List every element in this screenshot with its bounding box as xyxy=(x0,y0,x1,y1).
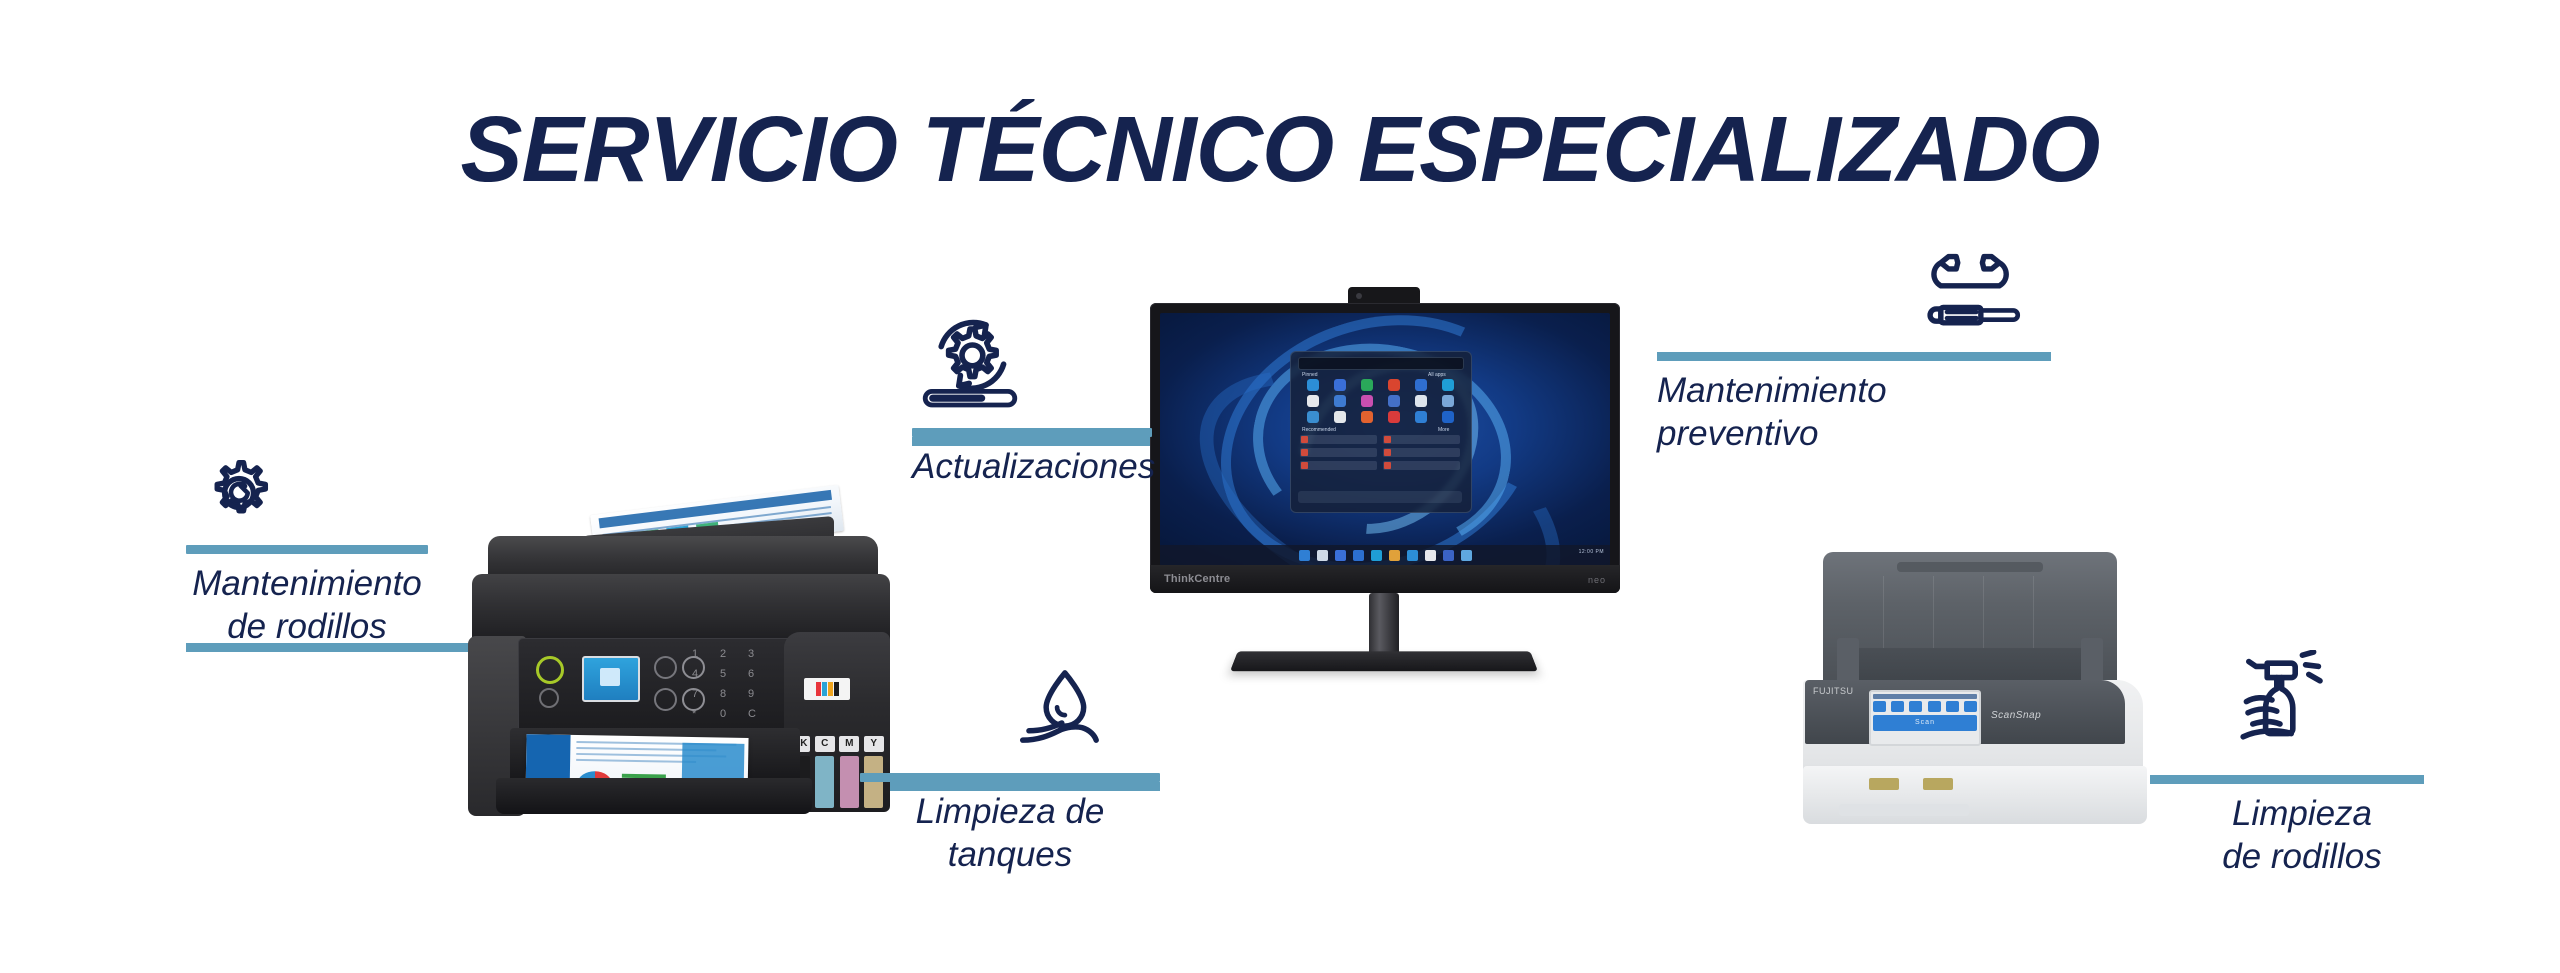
taskbar-settings-icon[interactable] xyxy=(1461,550,1472,561)
recommended-item[interactable] xyxy=(1300,461,1377,470)
start-menu-user-and-power-row[interactable] xyxy=(1298,491,1462,503)
wrench-screwdriver-icon xyxy=(1927,252,2027,332)
printer-power-button[interactable] xyxy=(536,656,564,684)
recommended-item[interactable] xyxy=(1383,448,1460,457)
start-menu-all-apps-button[interactable]: All apps xyxy=(1428,372,1446,378)
scanner-output-slot-right xyxy=(1923,778,1953,790)
printer-numeric-keypad[interactable]: 123 456 789 *0C xyxy=(690,648,782,728)
app-icon-photos[interactable] xyxy=(1334,395,1346,407)
printer-lcd-screen[interactable] xyxy=(582,656,640,702)
scanner-screen-titlebar xyxy=(1873,694,1977,699)
app-icon-onenote[interactable] xyxy=(1361,395,1373,407)
monitor-stand-base xyxy=(1230,651,1538,671)
scanner-profile-button[interactable] xyxy=(1909,701,1922,712)
monitor-model-label: neo xyxy=(1588,575,1606,585)
taskbar-mail-icon[interactable] xyxy=(1443,550,1454,561)
app-icon-powerpoint[interactable] xyxy=(1388,379,1400,391)
feature-rule xyxy=(860,773,1160,782)
taskbar-store-icon[interactable] xyxy=(1425,550,1436,561)
ink-window-c xyxy=(815,756,834,808)
scanner-output-slot-left xyxy=(1869,778,1899,790)
start-menu-pinned-apps-grid[interactable] xyxy=(1300,379,1460,423)
start-menu-recommended-heading: Recommended xyxy=(1302,427,1336,433)
app-icon-settings[interactable] xyxy=(1307,411,1319,423)
app-icon-calculator[interactable] xyxy=(1334,411,1346,423)
recommended-item[interactable] xyxy=(1300,448,1377,457)
feature-rule xyxy=(912,428,1152,437)
start-menu-pinned-heading: Pinned xyxy=(1302,372,1318,378)
app-icon-power-automate[interactable] xyxy=(1442,411,1454,423)
feature-rule xyxy=(186,545,428,554)
app-icon-company-portal[interactable] xyxy=(1415,411,1427,423)
scanner-scan-button[interactable]: Scan xyxy=(1873,715,1977,731)
scanner-profile-button[interactable] xyxy=(1873,701,1886,712)
start-menu-recommended-list[interactable] xyxy=(1300,435,1460,470)
feature-mantenimiento-de-rodillos[interactable]: Mantenimiento de rodillos xyxy=(186,545,456,648)
recommended-item[interactable] xyxy=(1383,435,1460,444)
printer-ink-tank-labels: BK C M Y xyxy=(788,736,886,752)
fujitsu-scanner-illustration: FUJITSU Scan ScanSnap xyxy=(1805,552,2225,852)
scanner-profile-button[interactable] xyxy=(1891,701,1904,712)
taskbar-search-icon[interactable] xyxy=(1317,550,1328,561)
taskbar-clock[interactable]: 12:00 PM xyxy=(1579,549,1604,555)
app-icon-word[interactable] xyxy=(1388,395,1400,407)
app-icon-edge[interactable] xyxy=(1307,379,1319,391)
printer-stop-button[interactable] xyxy=(654,688,677,711)
scanner-profile-button[interactable] xyxy=(1964,701,1977,712)
feature-rule xyxy=(2180,775,2424,784)
scanner-model-label: ScanSnap xyxy=(1991,710,2041,721)
monitor-brand-label: ThinkCentre xyxy=(1164,573,1230,585)
epson-printer-illustration: EPSON 123 456 789 *0C BK C M Y xyxy=(432,530,922,850)
taskbar-file-explorer-icon[interactable] xyxy=(1389,550,1400,561)
feature-label: Mantenimiento preventivo xyxy=(1657,370,2051,455)
ink-window-m xyxy=(840,756,859,808)
recommended-item[interactable] xyxy=(1300,435,1377,444)
app-icon-mail[interactable] xyxy=(1334,379,1346,391)
printer-home-button[interactable] xyxy=(539,688,559,708)
scanner-brand-label: FUJITSU xyxy=(1813,686,1854,696)
app-icon-remote-desktop[interactable] xyxy=(1361,411,1373,423)
gear-wrench-icon xyxy=(201,455,277,531)
taskbar-teams-icon[interactable] xyxy=(1371,550,1382,561)
taskbar-edge-icon[interactable] xyxy=(1407,550,1418,561)
feature-label: Limpieza de tanques xyxy=(860,791,1160,876)
feature-limpieza-de-tanques[interactable]: Limpieza de tanques xyxy=(860,773,1160,876)
recommended-item[interactable] xyxy=(1383,461,1460,470)
scanner-screen-profile-row[interactable] xyxy=(1873,701,1977,712)
monitor-stand-neck xyxy=(1369,593,1399,655)
app-icon-teams[interactable] xyxy=(1442,379,1454,391)
feature-limpieza-de-rodillos[interactable]: Limpieza de rodillos xyxy=(2180,775,2424,878)
printer-ecotank-badge xyxy=(804,678,850,700)
app-icon-store[interactable] xyxy=(1307,395,1319,407)
ink-label-c: C xyxy=(815,736,835,752)
taskbar-task-view-icon[interactable] xyxy=(1335,550,1346,561)
scanner-profile-button[interactable] xyxy=(1946,701,1959,712)
page-title: SERVICIO TÉCNICO ESPECIALIZADO xyxy=(0,96,2560,203)
app-icon-snipping-tool[interactable] xyxy=(1388,411,1400,423)
scanner-output-extension xyxy=(1839,804,1969,816)
app-icon-todo[interactable] xyxy=(1415,395,1427,407)
feature-mantenimiento-preventivo[interactable]: Mantenimiento preventivo xyxy=(1657,352,2051,455)
feature-label: Mantenimiento de rodillos xyxy=(186,563,428,648)
ink-label-m: M xyxy=(839,736,859,752)
water-drop-hand-icon xyxy=(1018,668,1104,756)
feature-actualizaciones[interactable]: Actualizaciones xyxy=(912,428,1152,489)
feature-label: Actualizaciones xyxy=(912,446,1152,489)
scanner-profile-button[interactable] xyxy=(1928,701,1941,712)
app-icon-whiteboard[interactable] xyxy=(1442,395,1454,407)
taskbar-widgets-icon[interactable] xyxy=(1353,550,1364,561)
infographic-canvas: SERVICIO TÉCNICO ESPECIALIZADO EPSON 123 xyxy=(0,0,2560,973)
taskbar-start-icon[interactable] xyxy=(1299,550,1310,561)
ink-label-y: Y xyxy=(864,736,884,752)
printer-base xyxy=(496,778,812,814)
printer-help-button[interactable] xyxy=(654,656,677,679)
app-icon-excel[interactable] xyxy=(1361,379,1373,391)
gear-refresh-progress-icon xyxy=(922,313,1018,409)
windows-taskbar[interactable] xyxy=(1160,545,1610,565)
start-menu-search-input[interactable] xyxy=(1298,357,1464,370)
start-menu-more-button[interactable]: More xyxy=(1438,427,1449,433)
scanner-touchscreen[interactable]: Scan xyxy=(1869,690,1981,746)
feature-label: Limpieza de rodillos xyxy=(2180,793,2424,878)
feature-rule xyxy=(1657,352,2051,361)
spray-bottle-hand-icon xyxy=(2232,650,2328,750)
app-icon-outlook[interactable] xyxy=(1415,379,1427,391)
lenovo-all-in-one-illustration: Pinned All apps Recommended More xyxy=(1150,287,1620,677)
